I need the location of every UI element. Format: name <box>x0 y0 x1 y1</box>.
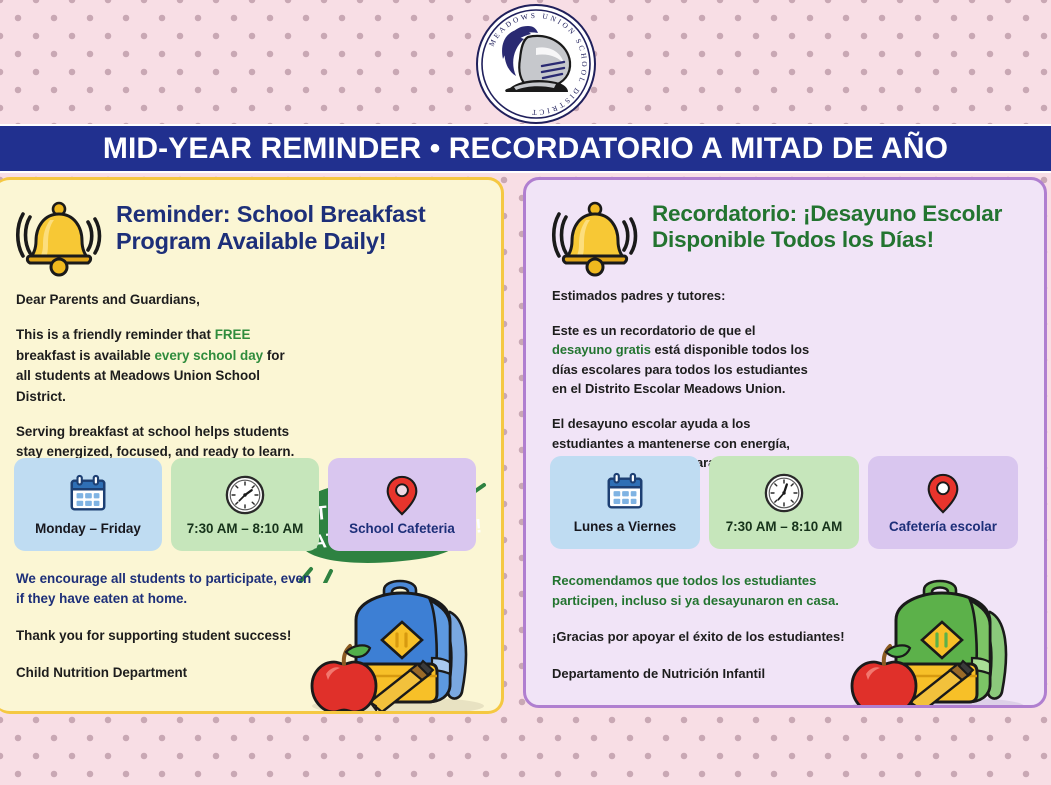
info-days-label: Monday – Friday <box>35 521 141 536</box>
calendar-icon <box>67 474 109 516</box>
english-headline: Reminder: School Breakfast Program Avail… <box>116 197 487 256</box>
p1-free-emphasis: FREE <box>215 327 251 342</box>
spanish-reminder-card: Recordatorio: ¡Desayuno Escolar Disponib… <box>523 177 1047 708</box>
english-reminder-card: Reminder: School Breakfast Program Avail… <box>0 177 504 714</box>
english-footer-highlight: We encourage all students to participate… <box>16 569 316 609</box>
calendar-icon <box>604 472 646 514</box>
mid-year-reminder-banner: MID-YEAR REMINDER • RECORDATORIO A MITAD… <box>0 124 1051 173</box>
p1-free-emphasis: desayuno gratis <box>552 342 651 357</box>
info-time-label: 7:30 AM – 8:10 AM <box>187 521 304 536</box>
english-info-row: Monday – Friday <box>14 458 476 551</box>
spanish-paragraph-1: Este es un recordatorio de que el desayu… <box>552 321 814 399</box>
english-salutation: Dear Parents and Guardians, <box>16 290 298 310</box>
spanish-footer-thanks: ¡Gracias por apoyar el éxito de los estu… <box>552 627 862 647</box>
location-pin-icon <box>381 474 423 516</box>
poster-background: MEADOWS UNION SCHOOL DISTRICT MID-YEAR R… <box>0 0 1051 785</box>
backpack-apple-pencil-icon <box>830 560 1040 708</box>
spanish-salutation: Estimados padres y tutores: <box>552 286 814 306</box>
bell-icon <box>548 197 644 277</box>
info-box-location: School Cafeteria <box>328 458 476 551</box>
p1-everyday-emphasis: every school day <box>154 348 263 363</box>
info-location-label: Cafetería escolar <box>889 519 997 534</box>
spanish-footer-signature: Departamento de Nutrición Infantil <box>552 664 862 684</box>
info-time-label: 7:30 AM – 8:10 AM <box>726 519 843 534</box>
clock-icon <box>763 472 805 514</box>
p1-part-a: This is a friendly reminder that <box>16 327 215 342</box>
bell-icon <box>12 197 108 277</box>
english-footer-thanks: Thank you for supporting student success… <box>16 626 316 646</box>
info-box-time: 7:30 AM – 8:10 AM <box>171 458 319 551</box>
banner-title: MID-YEAR REMINDER • RECORDATORIO A MITAD… <box>103 132 948 166</box>
p1-part-a: Este es un recordatorio de que el <box>552 323 755 338</box>
english-backpack-illustration <box>290 560 500 714</box>
info-box-location: Cafetería escolar <box>868 456 1018 549</box>
english-paragraph-2: Serving breakfast at school helps studen… <box>16 422 298 463</box>
p1-part-b: breakfast is available <box>16 348 154 363</box>
info-box-days: Monday – Friday <box>14 458 162 551</box>
english-body-copy: Dear Parents and Guardians, This is a fr… <box>16 290 298 463</box>
info-box-days: Lunes a Viernes <box>550 456 700 549</box>
english-paragraph-1: This is a friendly reminder that FREE br… <box>16 325 298 407</box>
spanish-info-row: Lunes a Viernes <box>550 456 1018 549</box>
info-box-time: 7:30 AM – 8:10 AM <box>709 456 859 549</box>
info-location-label: School Cafeteria <box>349 521 455 536</box>
backpack-apple-pencil-icon <box>290 560 500 714</box>
english-footer-signature: Child Nutrition Department <box>16 663 316 683</box>
english-footer-copy: We encourage all students to participate… <box>16 569 316 683</box>
spanish-footer-highlight: Recomendamos que todos los estudiantes p… <box>552 571 862 610</box>
knight-helmet-icon: MEADOWS UNION SCHOOL DISTRICT <box>476 4 596 124</box>
spanish-body-copy: Estimados padres y tutores: Este es un r… <box>552 286 814 473</box>
english-headline-row: Reminder: School Breakfast Program Avail… <box>12 197 487 277</box>
spanish-headline: Recordatorio: ¡Desayuno Escolar Disponib… <box>652 197 1030 253</box>
spanish-headline-row: Recordatorio: ¡Desayuno Escolar Disponib… <box>548 197 1030 277</box>
district-logo: MEADOWS UNION SCHOOL DISTRICT <box>476 4 596 124</box>
info-days-label: Lunes a Viernes <box>574 519 676 534</box>
clock-icon <box>224 474 266 516</box>
location-pin-icon <box>922 472 964 514</box>
spanish-footer-copy: Recomendamos que todos los estudiantes p… <box>552 571 862 683</box>
spanish-backpack-illustration <box>830 560 1040 708</box>
